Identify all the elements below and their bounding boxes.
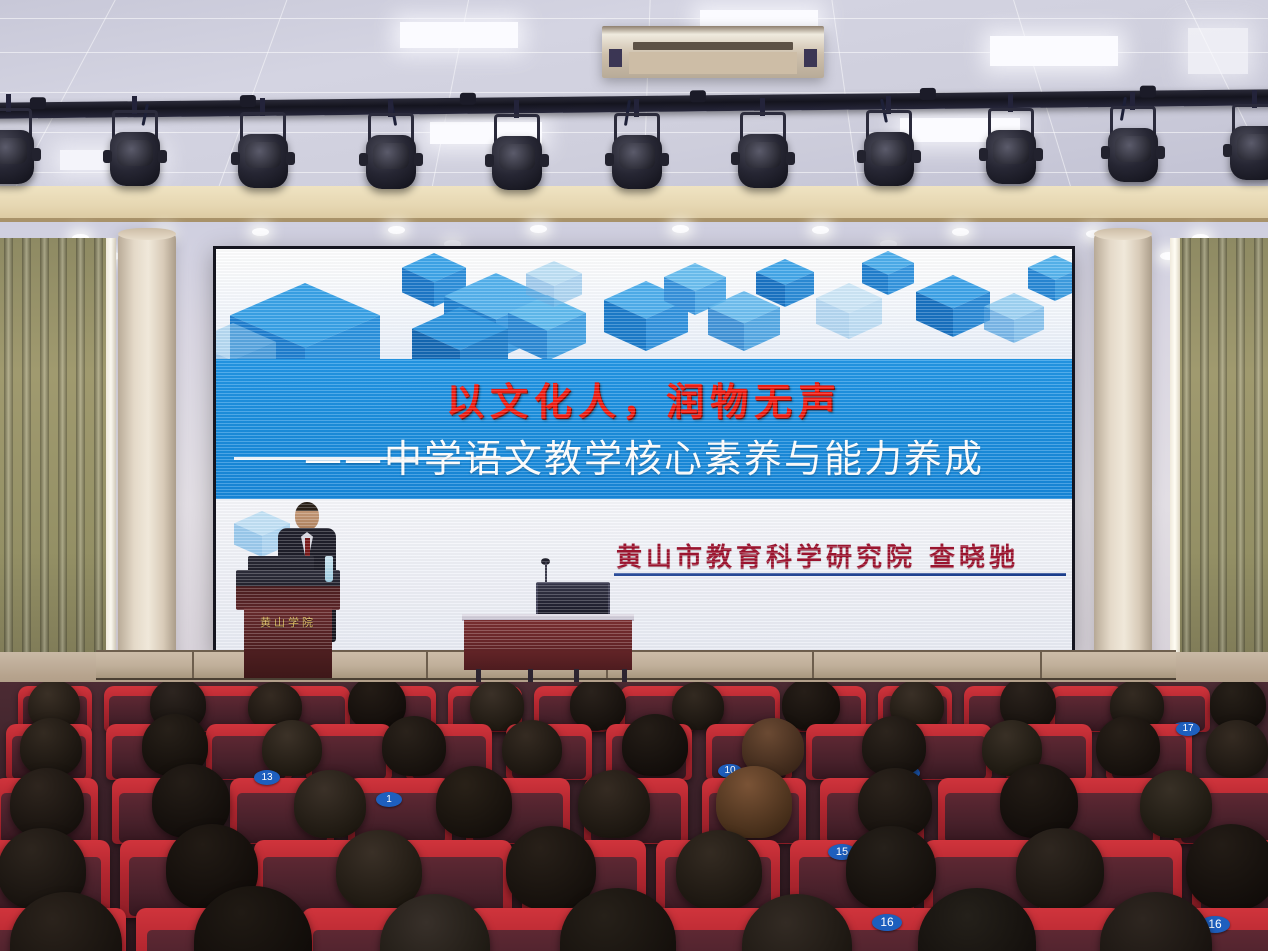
recessed-downlight xyxy=(812,226,829,234)
audience-head xyxy=(436,766,512,838)
audience-head xyxy=(336,830,422,910)
stage-light xyxy=(488,114,546,198)
seat-number-badge: 13 xyxy=(254,770,280,785)
recessed-downlight xyxy=(952,228,969,236)
audience-head xyxy=(862,716,926,776)
recessed-downlight xyxy=(252,228,269,236)
audience-head xyxy=(622,714,688,776)
desk-monitor[interactable] xyxy=(536,582,610,616)
audience-head xyxy=(1096,716,1160,776)
slide-subtitle: ——中学语文教学核心素养与能力养成 xyxy=(216,435,1072,483)
audience-head xyxy=(470,682,524,730)
led-presentation-screen[interactable]: 以文化人，润物无声 ——中学语文教学核心素养与能力养成 黄山市教育科学研究院 查… xyxy=(213,246,1075,654)
lectern-podium: 黄山学院 xyxy=(236,570,340,678)
audience-head xyxy=(506,826,596,910)
slide-cube-graphic xyxy=(216,249,1072,369)
stage-light xyxy=(234,112,292,196)
stage-curtain-left xyxy=(0,238,108,686)
stage-light xyxy=(860,110,918,194)
audience-head xyxy=(1000,764,1078,838)
audience-head xyxy=(262,720,322,776)
audience-head xyxy=(570,682,626,730)
stage-light xyxy=(734,112,792,196)
stage-light xyxy=(608,113,666,197)
audience-seating: 09 18 10 1 17 xyxy=(0,682,1268,951)
water-bottle xyxy=(325,556,333,582)
stage-curtain-right xyxy=(1178,238,1268,686)
stage-light xyxy=(106,110,164,194)
podium-logo-text: 黄山学院 xyxy=(236,614,340,630)
stage-light xyxy=(1104,106,1162,190)
presenter-underline xyxy=(614,573,1066,576)
seat-number-badge: 16 xyxy=(872,914,902,931)
hvac-ceiling-unit xyxy=(602,26,824,78)
recessed-downlight xyxy=(530,225,547,233)
curtain-light-strip-left xyxy=(106,238,116,686)
stage-light xyxy=(362,113,420,197)
audience-head xyxy=(1016,828,1104,910)
audience-head xyxy=(1140,770,1212,838)
stage-light xyxy=(1226,104,1268,188)
ceiling-light-panel xyxy=(1188,28,1248,74)
presenter-head xyxy=(295,502,319,530)
stage-light xyxy=(0,108,38,192)
audience-head xyxy=(846,826,936,910)
ceiling-light-panel xyxy=(990,36,1118,66)
audience-head xyxy=(382,716,446,776)
audience-head xyxy=(676,830,762,910)
audience-head xyxy=(1206,720,1268,778)
slide-surface: 以文化人，润物无声 ——中学语文教学核心素养与能力养成 黄山市教育科学研究院 查… xyxy=(216,249,1072,651)
audience-head xyxy=(1186,824,1268,910)
seat-number-badge: 17 xyxy=(1176,722,1200,736)
auditorium-scene: 以文化人，润物无声 ——中学语文教学核心素养与能力养成 黄山市教育科学研究院 查… xyxy=(0,0,1268,951)
seat-number-badge: 1 xyxy=(376,792,402,807)
audience-head xyxy=(294,770,366,838)
slide-presenter-line: 黄山市教育科学研究院 查晓驰 xyxy=(616,537,1019,574)
wall-column-left xyxy=(118,232,176,684)
curtain-light-strip-right xyxy=(1170,238,1180,686)
audience-head xyxy=(578,770,650,838)
ceiling-light-panel xyxy=(400,22,518,48)
stage-light xyxy=(982,108,1040,192)
wall-column-right xyxy=(1094,232,1152,684)
audience-head xyxy=(716,766,792,838)
slide-main-title: 以文化人，润物无声 xyxy=(216,377,1072,427)
audience-head xyxy=(672,682,724,730)
audience-head xyxy=(502,720,562,776)
recessed-downlight xyxy=(672,225,689,233)
recessed-downlight xyxy=(388,226,405,234)
